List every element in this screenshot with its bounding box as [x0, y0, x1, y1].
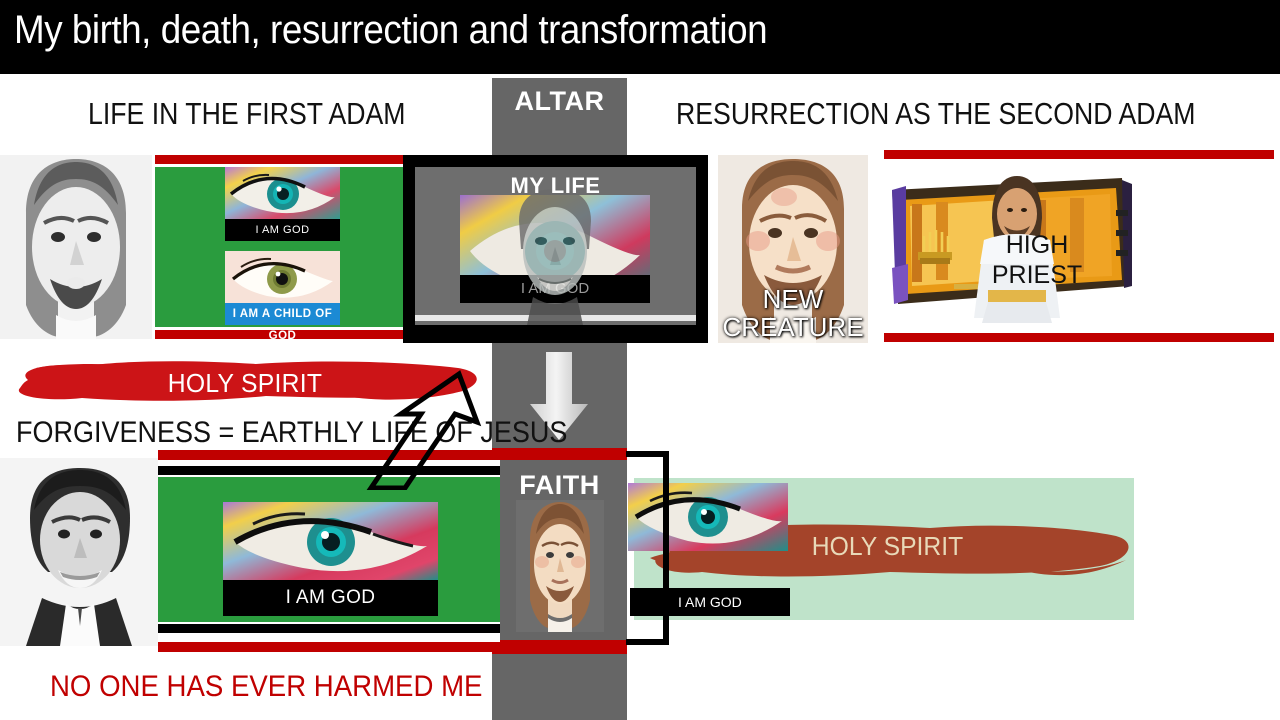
natural-eye-image	[225, 251, 340, 303]
eye-card-i-am-god: I AM GOD	[225, 167, 340, 241]
high-priest-red-stripe-top	[884, 150, 1274, 159]
colorful-eye-image	[223, 502, 438, 580]
new-creature-line1: NEW	[718, 285, 868, 313]
bracket-connector-icon	[620, 448, 690, 648]
faith-label: FAITH	[492, 470, 627, 501]
new-creature-card: NEW CREATURE	[718, 155, 868, 343]
left-column-header: LIFE IN THE FIRST ADAM	[88, 96, 406, 132]
eye-card-i-am-god: I AM GOD	[223, 502, 438, 616]
grayscale-man-photo	[0, 458, 158, 646]
new-creature-line2: CREATURE	[718, 313, 868, 341]
altar-label: ALTAR	[492, 86, 627, 117]
high-priest-line1: HIGH	[982, 230, 1092, 260]
my-life-panel: MY LIFE I AM GOD	[403, 155, 708, 343]
altar-red-divider-bottom	[492, 640, 627, 654]
page-title: My birth, death, resurrection and transf…	[14, 8, 767, 53]
first-adam-green-panel: I AM GOD I AM A CHILD OF GOD	[155, 155, 405, 339]
high-priest-red-stripe-bottom	[884, 333, 1274, 342]
eye-card-caption: I AM GOD	[225, 219, 340, 241]
high-priest-card: HIGH PRIEST	[884, 150, 1274, 342]
high-priest-line2: PRIEST	[982, 260, 1092, 290]
eye-card-caption: I AM GOD	[223, 580, 438, 616]
panel-red-stripe-top	[155, 155, 405, 164]
grayscale-jesus-portrait	[0, 155, 152, 339]
my-life-title: MY LIFE	[415, 173, 696, 199]
no-harm-statement: NO ONE HAS EVER HARMED ME	[50, 670, 482, 704]
my-life-inner: MY LIFE I AM GOD	[415, 167, 696, 325]
watercolor-jesus-faith-image	[516, 500, 604, 632]
colorful-eye-image	[225, 167, 340, 219]
new-creature-label: NEW CREATURE	[718, 285, 868, 341]
title-bar: My birth, death, resurrection and transf…	[0, 0, 1280, 74]
high-priest-label: HIGH PRIEST	[982, 230, 1092, 290]
eye-card-caption: I AM A CHILD OF GOD	[225, 303, 340, 325]
panel-black-stripe-bottom	[158, 624, 500, 633]
right-column-header: RESURRECTION AS THE SECOND ADAM	[676, 96, 1195, 132]
face-overlay-image	[503, 185, 607, 325]
eye-card-i-am-a-child-of-god: I AM A CHILD OF GOD	[225, 251, 340, 325]
up-right-arrow-icon	[355, 370, 485, 490]
panel-red-stripe-bottom	[158, 642, 500, 652]
